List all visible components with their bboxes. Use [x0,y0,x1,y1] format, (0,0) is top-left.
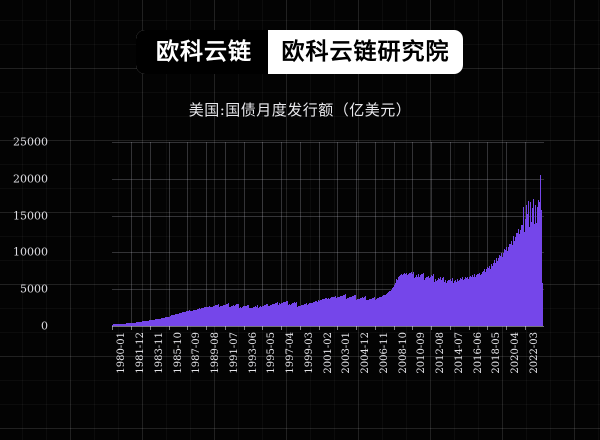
y-axis-tick-label: 15000 [13,209,48,222]
x-axis-tick [487,326,488,330]
x-axis-tick-label: 2014-07 [454,332,465,374]
x-axis-tick-label: 1999-03 [304,332,315,374]
x-axis-tick-label: 1991-07 [229,332,240,374]
x-axis-tick-label: 2010-09 [416,332,427,374]
bar-series [112,142,544,326]
x-axis-tick-label: 2022-03 [529,332,540,374]
x-axis-tick [431,326,432,330]
brand-wordmark: 欧科云链研究院 [268,30,463,74]
x-axis-tick [169,326,170,330]
x-axis-tick [187,326,188,330]
x-axis-tick [131,326,132,330]
x-axis-tick-label: 2006-11 [379,332,390,374]
x-axis-tick-label: 1993-06 [248,332,259,374]
x-axis-tick [281,326,282,330]
x-axis-tick [356,326,357,330]
x-axis-tick-label: 1997-04 [285,332,296,374]
x-axis-tick-label: 2016-06 [473,332,484,374]
x-axis-tick [525,326,526,330]
x-axis-tick-label: 2008-10 [398,332,409,374]
x-axis-tick [375,326,376,330]
y-axis-tick-label: 20000 [13,172,48,185]
x-axis-tick-label: 2020-04 [510,332,521,374]
x-axis-tick-label: 2012-08 [435,332,446,374]
x-axis-tick-label: 1983-11 [154,332,165,374]
chart-page: 欧科云链 欧科云链研究院 美国:国债月度发行额（亿美元） 05000100001… [0,0,600,440]
x-axis-tick [412,326,413,330]
y-axis-tick-label: 10000 [13,246,48,259]
x-axis-tick-label: 1980-01 [116,332,127,374]
x-axis-tick [300,326,301,330]
x-axis-line [112,326,544,327]
x-axis-tick [225,326,226,330]
x-axis-tick [150,326,151,330]
x-axis-tick [450,326,451,330]
chart-title: 美国:国债月度发行额（亿美元） [0,99,600,120]
bar [542,283,543,326]
x-axis-tick [112,326,113,330]
x-axis-tick-label: 1987-09 [191,332,202,374]
x-axis-tick [506,326,507,330]
x-axis-tick [319,326,320,330]
brand-logo-bar: 欧科云链 欧科云链研究院 [136,30,463,74]
x-axis-tick-label: 1995-05 [266,332,277,374]
x-axis-tick-label: 1981-12 [135,332,146,374]
x-axis-tick [206,326,207,330]
y-axis-tick-label: 0 [41,320,48,333]
x-axis-tick-label: 2018-05 [491,332,502,374]
y-axis-tick-label: 25000 [13,136,48,149]
x-axis-tick-label: 1985-10 [173,332,184,374]
plot-area [112,142,544,326]
y-axis-tick-label: 5000 [20,283,48,296]
x-axis-tick [394,326,395,330]
x-axis-tick [337,326,338,330]
brand-mark: 欧科云链 [136,30,268,74]
x-axis-tick-label: 2004-12 [360,332,371,374]
x-axis-tick [469,326,470,330]
x-axis-tick-label: 2003-01 [341,332,352,374]
x-axis-tick-label: 2001-02 [323,332,334,374]
x-axis-tick-label: 1989-08 [210,332,221,374]
x-axis-tick [244,326,245,330]
x-axis-tick [262,326,263,330]
